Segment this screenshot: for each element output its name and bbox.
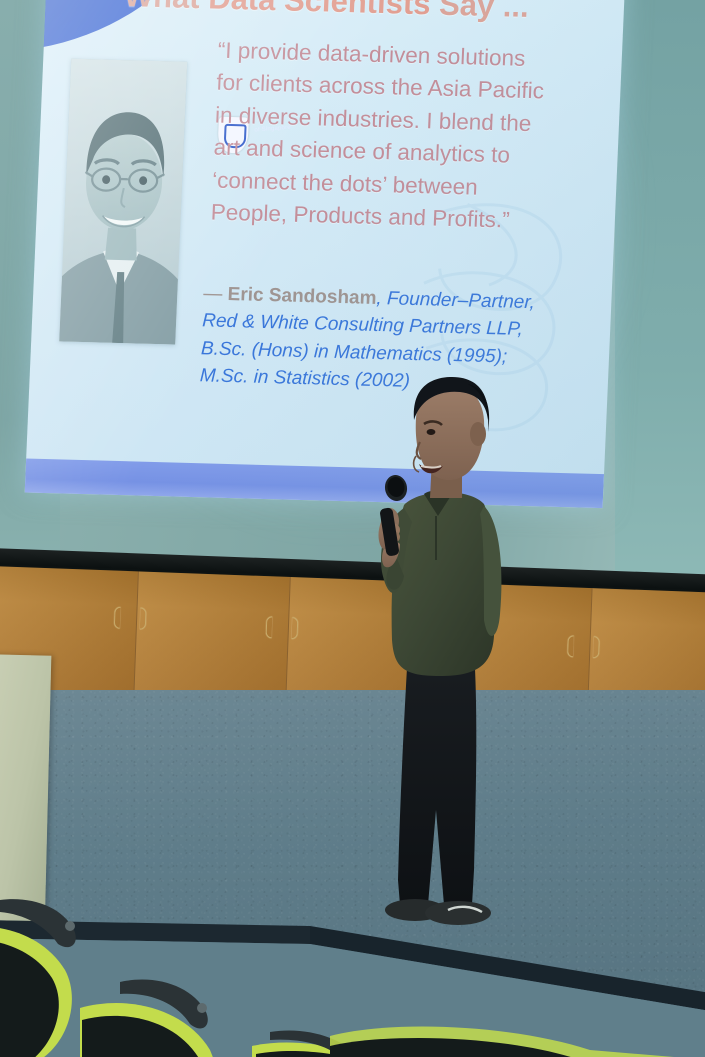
auditorium-seat-row-right[interactable]	[330, 1000, 705, 1057]
slide-title: What Data Scientists Say ...	[123, 0, 529, 25]
slide-title-prefix: What	[123, 0, 209, 15]
slide-title-emphasis: Data Scientists	[208, 0, 432, 21]
attribution-dash: —	[203, 283, 228, 305]
projected-slide: of Singapore What Data Scientists Say ..…	[25, 0, 626, 508]
cabinet-handle-icon[interactable]	[114, 607, 121, 629]
cabinet-handle-icon[interactable]	[567, 635, 574, 657]
attribution-name: Eric Sandosham	[227, 284, 377, 309]
headshot-photo	[59, 59, 187, 345]
slide-quote: “I provide data-driven solutions for cli…	[210, 35, 608, 240]
cabinet-handle-icon[interactable]	[417, 626, 424, 648]
chair-pivot	[197, 1003, 207, 1013]
slide-attribution: — Eric Sandosham, Founder–Partner, Red &…	[199, 280, 604, 400]
slide-title-suffix: Say ...	[430, 0, 530, 24]
attribution-role: , Founder–Partner,	[376, 288, 535, 313]
chair-pivot	[65, 921, 75, 931]
lecture-hall-photo: of Singapore What Data Scientists Say ..…	[0, 0, 705, 1057]
cabinet-handle-icon[interactable]	[266, 616, 273, 638]
